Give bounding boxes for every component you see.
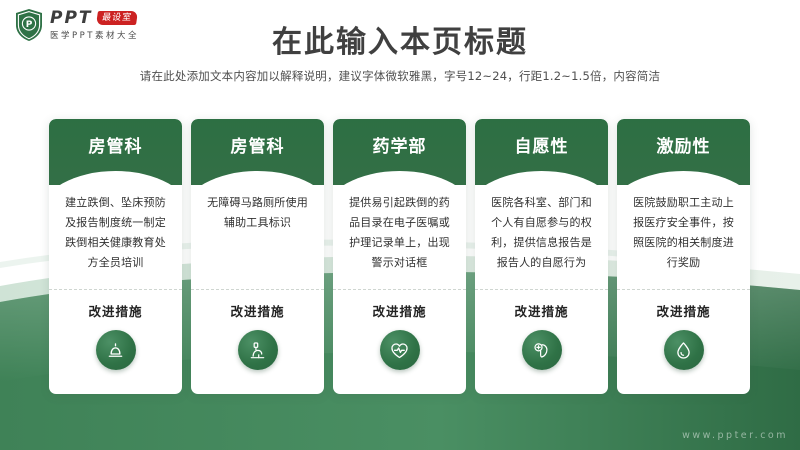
card-footer-label: 改进措施 xyxy=(372,301,426,320)
page-subtitle: 请在此处添加文本内容加以解释说明，建议字体微软雅黑，字号12~24，行距1.2~… xyxy=(0,68,800,84)
card-icon-badge[interactable] xyxy=(96,330,136,370)
card-item[interactable]: 药学部 提供易引起跌倒的药品目录在电子医嘱或护理记录单上，出现警示对话框 改进措… xyxy=(333,119,466,394)
shield-p-icon: P xyxy=(14,8,44,42)
brand-tagline: 医学PPT素材大全 xyxy=(50,29,139,41)
card-header: 房管科 xyxy=(49,119,182,185)
card-body-text: 提供易引起跌倒的药品目录在电子医嘱或护理记录单上，出现警示对话框 xyxy=(333,185,466,289)
card-footer: 改进措施 xyxy=(333,290,466,394)
card-footer-label: 改进措施 xyxy=(514,301,568,320)
slide-canvas: P PPT 最设室 医学PPT素材大全 在此输入本页标题 请在此处添加文本内容加… xyxy=(0,0,800,450)
card-body-text: 无障碍马路厕所使用辅助工具标识 xyxy=(191,185,324,289)
card-heading: 房管科 xyxy=(49,132,182,157)
card-item[interactable]: 激励性 医院鼓励职工主动上报医疗安全事件，按照医院的相关制度进行奖励 改进措施 xyxy=(617,119,750,394)
card-heading: 激励性 xyxy=(617,132,750,157)
card-header-curve xyxy=(49,171,182,185)
card-body-text: 建立跌倒、坠床预防及报告制度统一制定跌倒相关健康教育处方全员培训 xyxy=(49,185,182,289)
card-header-curve xyxy=(475,171,608,185)
card-header-curve xyxy=(617,171,750,185)
card-footer: 改进措施 xyxy=(191,290,324,394)
card-item[interactable]: 房管科 建立跌倒、坠床预防及报告制度统一制定跌倒相关健康教育处方全员培训 改进措… xyxy=(49,119,182,394)
card-footer: 改进措施 xyxy=(617,290,750,394)
card-header: 房管科 xyxy=(191,119,324,185)
card-header: 药学部 xyxy=(333,119,466,185)
siren-alarm-icon xyxy=(105,340,126,361)
card-header: 激励性 xyxy=(617,119,750,185)
brand-text: PPT 最设室 医学PPT素材大全 xyxy=(50,10,139,41)
card-item[interactable]: 房管科 无障碍马路厕所使用辅助工具标识 改进措施 xyxy=(191,119,324,394)
card-icon-badge[interactable] xyxy=(664,330,704,370)
card-header-curve xyxy=(333,171,466,185)
card-heading: 药学部 xyxy=(333,132,466,157)
card-body-text: 医院鼓励职工主动上报医疗安全事件，按照医院的相关制度进行奖励 xyxy=(617,185,750,289)
card-footer: 改进措施 xyxy=(475,290,608,394)
water-drop-icon xyxy=(673,340,694,361)
card-header: 自愿性 xyxy=(475,119,608,185)
card-body-text: 医院各科室、部门和个人有自愿参与的权利，提供信息报告是报告人的自愿行为 xyxy=(475,185,608,289)
card-footer-label: 改进措施 xyxy=(230,301,284,320)
watermark: www.ppter.com xyxy=(682,430,788,441)
card-icon-badge[interactable] xyxy=(238,330,278,370)
card-icon-badge[interactable] xyxy=(380,330,420,370)
card-row: 房管科 建立跌倒、坠床预防及报告制度统一制定跌倒相关健康教育处方全员培训 改进措… xyxy=(49,119,759,394)
card-footer: 改进措施 xyxy=(49,290,182,394)
brand-logo[interactable]: P PPT 最设室 医学PPT素材大全 xyxy=(14,8,139,42)
brand-name: PPT xyxy=(50,10,93,27)
microscope-icon xyxy=(247,340,268,361)
hand-plus-icon xyxy=(531,340,552,361)
card-heading: 房管科 xyxy=(191,132,324,157)
card-footer-label: 改进措施 xyxy=(88,301,142,320)
svg-text:P: P xyxy=(26,20,33,30)
card-header-curve xyxy=(191,171,324,185)
heart-pulse-icon xyxy=(389,340,410,361)
card-heading: 自愿性 xyxy=(475,132,608,157)
card-item[interactable]: 自愿性 医院各科室、部门和个人有自愿参与的权利，提供信息报告是报告人的自愿行为 … xyxy=(475,119,608,394)
card-icon-badge[interactable] xyxy=(522,330,562,370)
card-footer-label: 改进措施 xyxy=(656,301,710,320)
brand-badge: 最设室 xyxy=(96,11,138,25)
